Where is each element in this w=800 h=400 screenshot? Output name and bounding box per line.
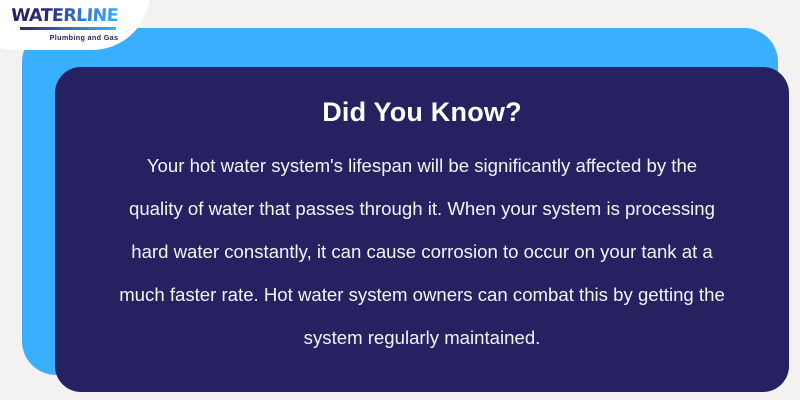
logo-underline-decoration: [20, 27, 116, 30]
body-line: system regularly maintained.: [89, 316, 755, 359]
logo-tagline: Plumbing and Gas: [50, 33, 119, 42]
body-line: much faster rate. Hot water system owner…: [89, 273, 755, 316]
card-outer-border: Did You Know? Your hot water system's li…: [22, 28, 778, 375]
page-title: Did You Know?: [89, 97, 755, 128]
infographic-canvas: { "brand": { "logo_wordmark": "WATERLINE…: [0, 0, 800, 400]
waterline-logo-icon: WATERLINE: [10, 8, 118, 26]
body-line: Your hot water system's lifespan will be…: [89, 144, 755, 187]
body-line: quality of water that passes through it.…: [89, 187, 755, 230]
body-line: hard water constantly, it can cause corr…: [89, 230, 755, 273]
card-body-text: Your hot water system's lifespan will be…: [89, 144, 755, 359]
did-you-know-card: Did You Know? Your hot water system's li…: [55, 67, 789, 392]
